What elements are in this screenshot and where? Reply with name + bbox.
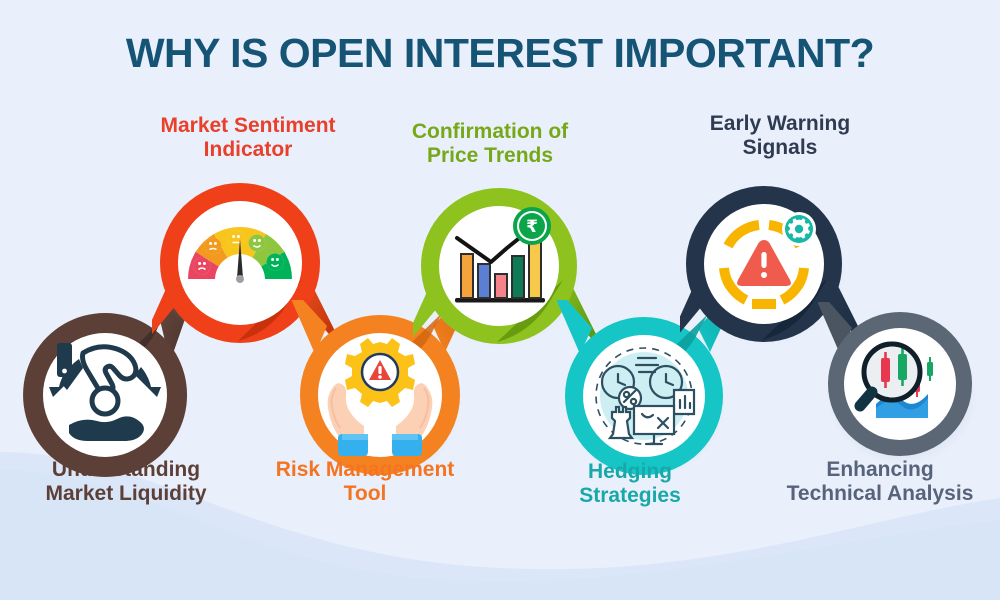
label-early-warning-signals: Early Warning Signals xyxy=(655,112,905,159)
label-enhancing-technical-analysis: Enhancing Technical Analysis xyxy=(760,458,1000,505)
svg-text:₹: ₹ xyxy=(526,217,538,237)
label-understanding-market-liquidity: Understanding Market Liquidity xyxy=(6,458,246,505)
label-market-sentiment-indicator: Market Sentiment Indicator xyxy=(118,114,378,161)
node-enhancing-technical-analysis[interactable] xyxy=(818,302,998,482)
label-risk-management-tool: Risk Management Tool xyxy=(240,458,490,505)
label-confirmation-of-price-trends: Confirmation of Price Trends xyxy=(370,120,610,167)
label-hedging-strategies: Hedging Strategies xyxy=(520,460,740,507)
infographic-canvas: Understanding Market Liquidity xyxy=(0,0,1000,600)
page-title: WHY IS OPEN INTEREST IMPORTANT? xyxy=(0,30,1000,77)
